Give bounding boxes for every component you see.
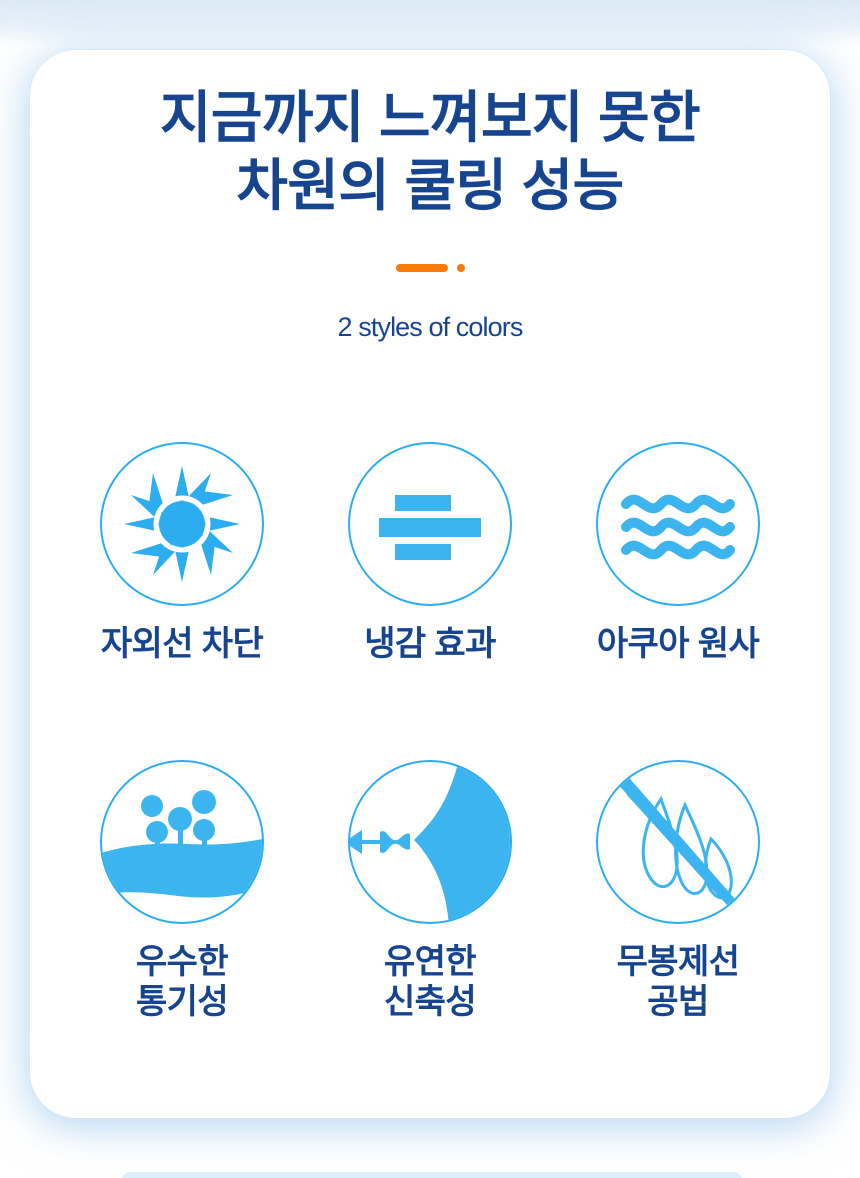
icon-ring xyxy=(100,760,264,924)
icon-ring xyxy=(348,760,512,924)
stretch-icon xyxy=(350,762,510,922)
previous-section-edge xyxy=(0,0,860,46)
feature-label: 냉감 효과 xyxy=(364,624,496,664)
no-seam-icon xyxy=(603,767,753,917)
feature-item: 자외선 차단 xyxy=(58,442,306,664)
feature-label: 아쿠아 원사 xyxy=(597,624,759,664)
feature-grid: 자외선 차단 냉감 효과 xyxy=(58,442,802,1022)
icon-ring xyxy=(100,442,264,606)
breathability-icon xyxy=(102,762,262,922)
cooling-performance-section: 지금까지 느껴보지 못한 차원의 쿨링 성능 2 styles of color… xyxy=(0,0,860,1178)
feature-item: 아쿠아 원사 xyxy=(554,442,802,664)
feature-label: 무봉제선 공법 xyxy=(617,942,740,1022)
feature-card: 지금까지 느껴보지 못한 차원의 쿨링 성능 2 styles of color… xyxy=(30,50,830,1118)
divider-bar xyxy=(396,264,448,272)
feature-label: 우수한 통기성 xyxy=(136,942,228,1022)
icon-ring xyxy=(596,760,760,924)
feature-item: 우수한 통기성 xyxy=(58,760,306,1022)
feature-item: 냉감 효과 xyxy=(306,442,554,664)
feature-item: 유연한 신축성 xyxy=(306,760,554,1022)
subtitle: 2 styles of colors xyxy=(30,312,830,343)
feature-label: 자외선 차단 xyxy=(101,624,263,664)
next-section-edge xyxy=(122,1172,742,1178)
divider-dot xyxy=(457,264,465,272)
divider xyxy=(30,264,830,272)
cooling-bars-icon xyxy=(370,464,490,584)
sun-uv-icon xyxy=(122,464,242,584)
page-title: 지금까지 느껴보지 못한 차원의 쿨링 성능 xyxy=(30,84,830,221)
icon-ring xyxy=(596,442,760,606)
feature-label: 유연한 신축성 xyxy=(384,942,476,1022)
feature-item: 무봉제선 공법 xyxy=(554,760,802,1022)
icon-ring xyxy=(348,442,512,606)
water-waves-icon xyxy=(618,464,738,584)
